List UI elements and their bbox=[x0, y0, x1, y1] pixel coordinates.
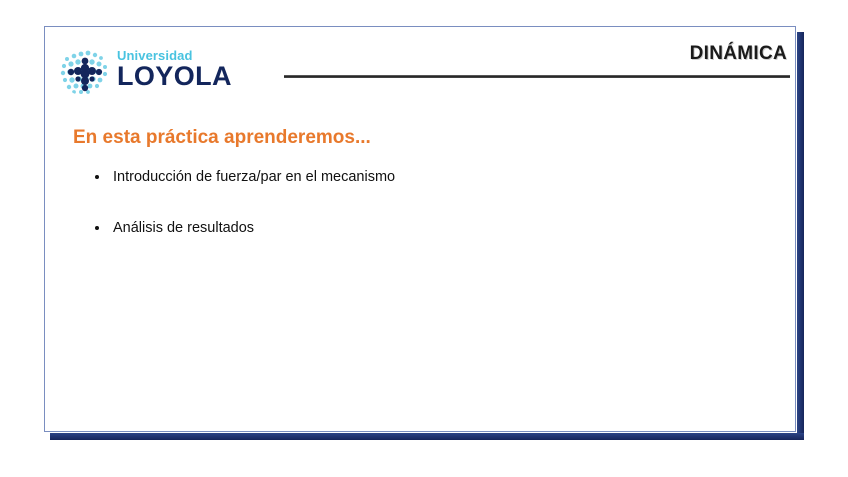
slide-header-title: DINÁMICA bbox=[690, 43, 787, 65]
list-item: Introducción de fuerza/par en el mecanis… bbox=[91, 169, 751, 186]
slide-frame-right-accent bbox=[797, 32, 804, 438]
presentation-slide: Universidad LOYOLA DINÁMICA En esta prác… bbox=[44, 26, 796, 432]
bullet-point-icon bbox=[95, 226, 99, 230]
loyola-dot-sphere-icon bbox=[59, 45, 111, 97]
list-item-label: Análisis de resultados bbox=[113, 220, 254, 236]
slide-heading: En esta práctica aprenderemos... bbox=[73, 127, 371, 149]
bullet-point-icon bbox=[95, 175, 99, 179]
list-item: Análisis de resultados bbox=[91, 220, 751, 237]
university-logo: Universidad LOYOLA bbox=[55, 37, 305, 93]
list-item-label: Introducción de fuerza/par en el mecanis… bbox=[113, 169, 395, 185]
logo-loyola-text: LOYOLA bbox=[117, 63, 232, 90]
slide-frame-bottom-accent bbox=[50, 433, 804, 440]
logo-wordmark: Universidad LOYOLA bbox=[117, 49, 232, 90]
header-divider-rule bbox=[284, 75, 790, 78]
bullet-list: Introducción de fuerza/par en el mecanis… bbox=[91, 169, 751, 272]
